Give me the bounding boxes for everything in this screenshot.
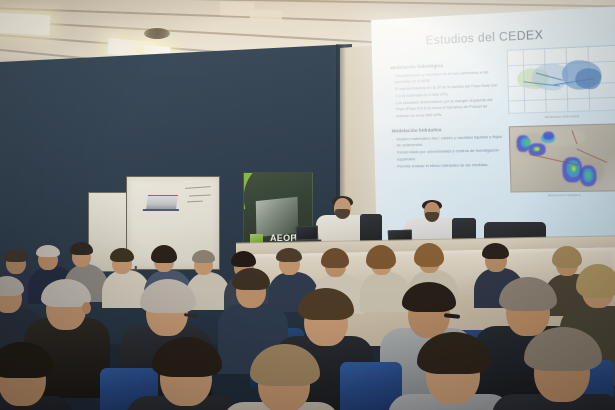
flood-inundation-map-icon	[509, 123, 615, 192]
whiteboard-sketch	[146, 195, 178, 209]
poster-photo	[256, 197, 298, 238]
laptop-left[interactable]	[296, 226, 318, 241]
figure-basin-hydrology: Modelación hidrológica	[507, 45, 615, 120]
slide-section-heading-hidraulica: Modelación hidráulica	[392, 126, 503, 134]
ceiling-vent	[144, 28, 170, 39]
projection-screen: Estudios del CEDEX Modelación hidrológic…	[371, 6, 615, 247]
basin-hydrology-map-icon	[507, 45, 615, 114]
slide-text-column: Modelación hidrológica Precipitaciones y…	[390, 60, 503, 171]
slide-figure-column: Modelación hidrológica	[507, 45, 615, 204]
slide-bullet: Los caudales desbordados por la margen i…	[391, 97, 502, 120]
slide-bullet: Permite evaluar el efecto hidráulico de …	[393, 162, 504, 170]
slide-bullet: Desarrollado por universidades y centros…	[392, 148, 503, 163]
figure-caption: Modelación hidráulica	[511, 192, 615, 197]
slide-surface: Estudios del CEDEX Modelación hidrológic…	[371, 6, 615, 247]
slide-title: Estudios del CEDEX	[426, 29, 544, 47]
ceiling-panel-right-b	[250, 9, 283, 23]
conference-room-scene: Estudios del CEDEX Modelación hidrológic…	[0, 0, 615, 410]
slide-bullets-hidraulica: Modelo matemático Iber: calado y caudale…	[392, 133, 504, 170]
ceiling-light-panel-left	[0, 13, 50, 36]
figure-flood-inundation: Modelación hidráulica	[509, 123, 615, 198]
slide-bullet: Modelo matemático Iber: calado y caudale…	[392, 133, 503, 149]
slide-bullets-hidrologica: Precipitaciones y caudales en el mes ant…	[390, 68, 502, 119]
